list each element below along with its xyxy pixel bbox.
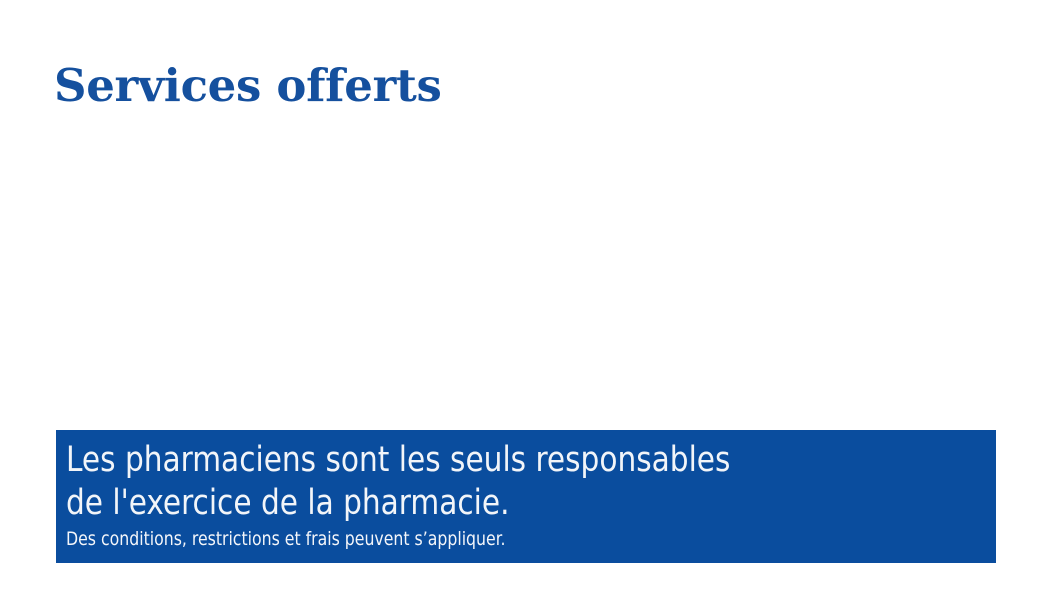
slide: Services offerts Les pharmaciens sont le… xyxy=(0,0,1050,600)
banner-heading: Les pharmaciens sont les seuls responsab… xyxy=(66,439,929,525)
banner-subtitle: Des conditions, restrictions et frais pe… xyxy=(66,527,911,551)
slide-content-area xyxy=(56,130,996,425)
notice-banner: Les pharmaciens sont les seuls responsab… xyxy=(56,430,996,563)
page-title: Services offerts xyxy=(54,60,442,112)
banner-heading-line-1: Les pharmaciens sont les seuls responsab… xyxy=(66,439,929,482)
banner-heading-line-2: de l'exercice de la pharmacie. xyxy=(66,482,929,525)
